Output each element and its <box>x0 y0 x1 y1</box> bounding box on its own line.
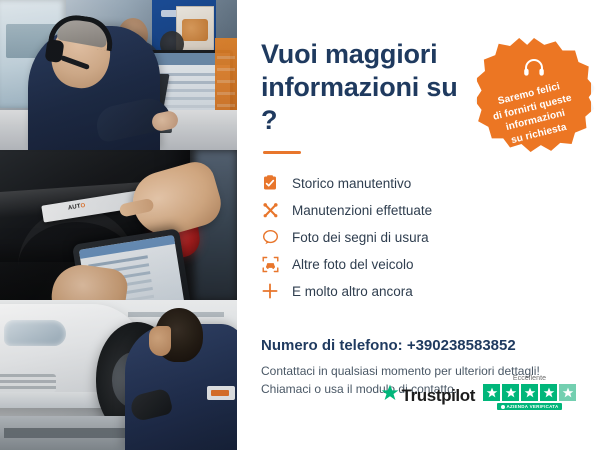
rating-star <box>521 384 538 401</box>
car-frame-icon <box>261 255 279 273</box>
mechanic-wheel-photo <box>0 300 237 450</box>
verified-company-badge: AZIENDA VERIFICATA <box>497 403 563 410</box>
trustpilot-logo: Trustpilot <box>381 384 475 410</box>
gauge-brand-label: AUTO <box>68 203 86 212</box>
star-rating <box>483 384 576 401</box>
feature-item-storico-manutentivo: Storico manutentivo <box>261 170 576 197</box>
rating-star <box>502 384 519 401</box>
wrench-cross-icon <box>261 201 279 219</box>
feature-label: Altre foto del veicolo <box>292 257 414 272</box>
feature-label: Foto dei segni di usura <box>292 230 429 245</box>
rating-star <box>540 384 557 401</box>
feature-item-manutenzioni-effettuate: Manutenzioni effettuate <box>261 197 576 224</box>
car-grille <box>0 374 56 392</box>
rating-label: Eccellente <box>513 375 546 382</box>
phone-number-line[interactable]: Numero di telefono: +390238583852 <box>261 337 576 354</box>
trustpilot-score: Eccellente <box>483 375 576 410</box>
call-center-photo <box>0 0 237 150</box>
rating-star-partial <box>559 384 576 401</box>
headline-line-1: Vuoi maggiori <box>261 39 437 69</box>
feature-label: E molto altro ancora <box>292 284 413 299</box>
page-title: Vuoi maggioriinformazioni su ? <box>261 38 476 137</box>
vehicle-inspection-photo: AUTO <box>0 150 237 300</box>
trustpilot-wordmark: Trustpilot <box>402 386 475 406</box>
headline-line-2: informazioni su ? <box>261 72 458 135</box>
feature-label: Storico manutentivo <box>292 176 411 191</box>
car-bumper <box>0 392 108 408</box>
vehicle-info-banner: AUTO <box>0 0 600 450</box>
mechanic-face <box>149 326 171 356</box>
content-panel: Vuoi maggioriinformazioni su ? Storico m… <box>237 0 600 450</box>
uniform-logo-patch <box>207 386 235 400</box>
feature-item-molto-altro: E molto altro ancora <box>261 278 576 305</box>
verified-label: AZIENDA VERIFICATA <box>507 404 559 409</box>
feature-item-altre-foto-veicolo: Altre foto del veicolo <box>261 251 576 278</box>
feature-item-foto-segni-usura: Foto dei segni di usura <box>261 224 576 251</box>
verified-check-icon <box>501 405 505 409</box>
feature-list: Storico manutentivo Manutenzi <box>261 170 576 305</box>
callout-badge: Saremo felici di fornirti queste informa… <box>477 38 591 152</box>
car-headlight <box>4 320 66 346</box>
feature-label: Manutenzioni effettuate <box>292 203 432 218</box>
trustpilot-star-icon <box>381 384 399 407</box>
headset-icon <box>523 58 545 83</box>
clipboard-check-icon <box>261 174 279 192</box>
photo-column: AUTO <box>0 0 237 450</box>
plus-icon <box>261 282 279 300</box>
trustpilot-rating[interactable]: Trustpilot Eccellente <box>381 375 576 410</box>
rating-star <box>483 384 500 401</box>
title-divider <box>263 151 301 154</box>
speech-bubble-icon <box>261 228 279 246</box>
